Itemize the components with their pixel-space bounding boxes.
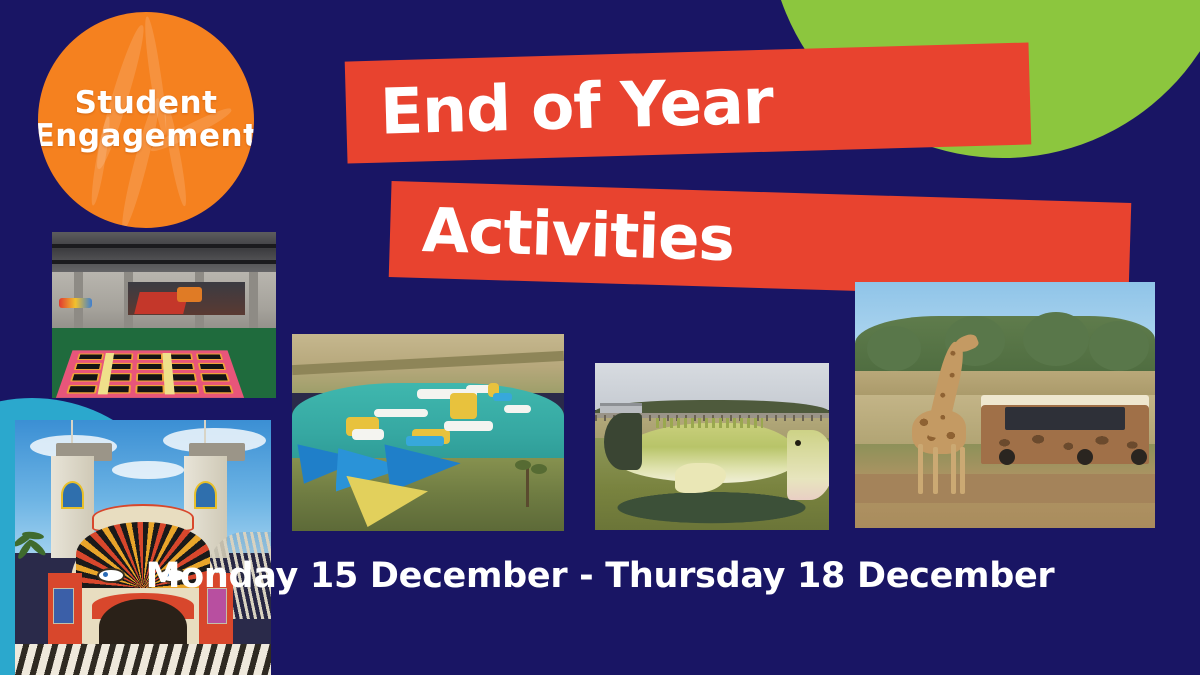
aquapark-artwork: [292, 334, 564, 531]
bigcod-artwork: [595, 363, 829, 530]
lunapark-artwork: [15, 420, 271, 675]
student-engagement-badge: Student Engagement: [38, 12, 254, 228]
title-line-2: Activities: [421, 199, 735, 269]
photo-zoo: [855, 282, 1155, 528]
badge-line-2: Engagement: [38, 120, 254, 153]
date-range-text: Monday 15 December - Thursday 18 Decembe…: [0, 556, 1200, 596]
trampoline-artwork: [52, 232, 276, 398]
poster-canvas: Student Engagement End of Year Activitie…: [0, 0, 1200, 675]
photo-trampoline: [52, 232, 276, 398]
zoo-artwork: [855, 282, 1155, 528]
badge-line-1: Student: [75, 87, 218, 120]
photo-aquapark: [292, 334, 564, 531]
title-line-1: End of Year: [379, 69, 773, 143]
photo-lunapark: [15, 420, 271, 675]
title-banner-top: End of Year: [345, 42, 1032, 163]
photo-bigcod: [595, 363, 829, 530]
badge-text: Student Engagement: [38, 12, 254, 228]
